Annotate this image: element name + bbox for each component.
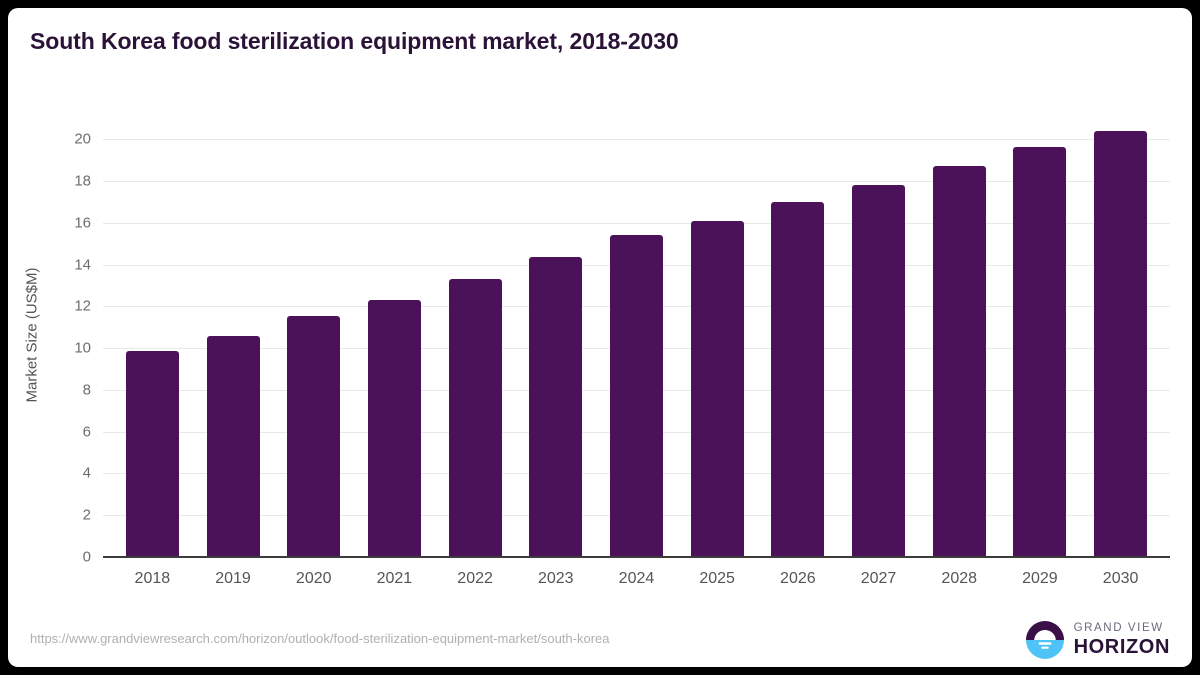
y-tick-label: 4 [83,465,91,482]
bar[interactable] [287,316,340,558]
bar[interactable] [1013,147,1066,558]
bar-slot: 2024 [596,113,677,558]
x-tick-label: 2030 [1103,570,1139,588]
bar[interactable] [933,166,986,558]
bar[interactable] [126,351,179,558]
x-tick-label: 2022 [457,570,493,588]
bar[interactable] [771,202,824,558]
y-tick-label: 8 [83,381,91,398]
x-tick-label: 2024 [619,570,655,588]
logo-line-1: GRAND VIEW [1074,623,1170,635]
x-tick-label: 2023 [538,570,574,588]
y-tick-label: 10 [74,340,91,357]
page-title: South Korea food sterilization equipment… [30,28,679,55]
chart-card: South Korea food sterilization equipment… [8,8,1192,667]
x-tick-label: 2027 [861,570,897,588]
bar-slot: 2030 [1080,113,1161,558]
y-tick-label: 14 [74,256,91,273]
x-tick-label: 2028 [941,570,977,588]
bar[interactable] [368,300,421,558]
bar-slot: 2025 [677,113,758,558]
plot-area: 02468101214161820 2018201920202021202220… [103,113,1170,558]
y-tick-label: 2 [83,507,91,524]
brand-logo: GRAND VIEW HORIZON [1025,620,1170,660]
x-tick-label: 2025 [699,570,735,588]
bar[interactable] [852,185,905,558]
horizon-circle-icon [1025,620,1065,660]
x-tick-label: 2020 [296,570,332,588]
screenshot-root: South Korea food sterilization equipment… [0,0,1200,675]
bar[interactable] [610,235,663,558]
bar[interactable] [691,221,744,558]
y-tick-label: 18 [74,172,91,189]
bar-slot: 2020 [273,113,354,558]
bar-slot: 2027 [838,113,919,558]
y-tick-label: 12 [74,298,91,315]
x-tick-label: 2021 [377,570,413,588]
logo-line-2: HORIZON [1074,637,1170,657]
bar-series: 2018201920202021202220232024202520262027… [103,113,1170,558]
y-tick-label: 0 [83,549,91,566]
bar-slot: 2028 [919,113,1000,558]
bar[interactable] [207,336,260,559]
bar-slot: 2021 [354,113,435,558]
x-tick-label: 2029 [1022,570,1058,588]
x-tick-label: 2019 [215,570,251,588]
y-tick-label: 16 [74,214,91,231]
x-tick-label: 2018 [135,570,171,588]
y-tick-label: 6 [83,423,91,440]
bar-slot: 2019 [193,113,274,558]
logo-wordmark: GRAND VIEW HORIZON [1074,623,1170,658]
source-url[interactable]: https://www.grandviewresearch.com/horizo… [30,631,610,646]
bar-slot: 2022 [435,113,516,558]
bar-slot: 2018 [112,113,193,558]
x-axis-line [103,556,1170,558]
x-tick-label: 2026 [780,570,816,588]
y-tick-label: 20 [74,131,91,148]
bar-slot: 2026 [758,113,839,558]
bar-slot: 2023 [515,113,596,558]
bar[interactable] [1094,131,1147,558]
y-axis-title: Market Size (US$M) [24,267,41,402]
bar[interactable] [529,257,582,558]
bar-slot: 2029 [1000,113,1081,558]
bar[interactable] [449,279,502,558]
